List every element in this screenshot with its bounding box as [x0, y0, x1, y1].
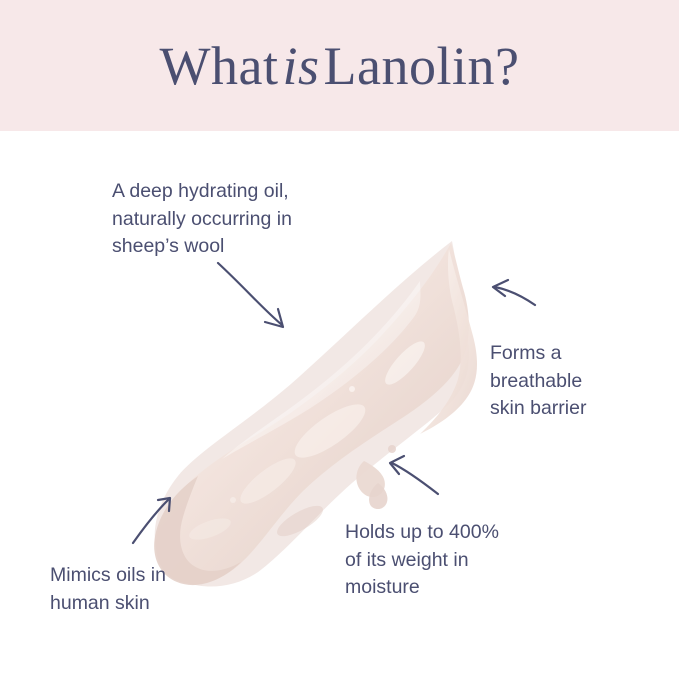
callout-forms-barrier-line-1: Forms a	[490, 340, 586, 368]
callout-holds-moisture-line-3: moisture	[345, 574, 499, 602]
callout-forms-barrier: Forms a breathable skin barrier	[490, 340, 586, 423]
callout-holds-moisture: Holds up to 400% of its weight in moistu…	[345, 519, 499, 602]
callout-deep-hydrating-line-2: naturally occurring in	[112, 206, 292, 234]
callout-mimics-oils-line-1: Mimics oils in	[50, 562, 166, 590]
lanolin-infographic: What is Lanolin?	[0, 0, 679, 679]
callout-holds-moisture-line-2: of its weight in	[345, 547, 499, 575]
page-title-part1: What	[160, 35, 279, 97]
callout-mimics-oils-line-2: human skin	[50, 590, 166, 618]
callout-forms-barrier-line-3: skin barrier	[490, 395, 586, 423]
callout-deep-hydrating-line-3: sheep’s wool	[112, 233, 292, 261]
page-title-part2: Lanolin?	[324, 35, 520, 97]
page-title-emphasis: is	[278, 35, 323, 97]
callout-deep-hydrating-line-1: A deep hydrating oil,	[112, 178, 292, 206]
callout-deep-hydrating: A deep hydrating oil, naturally occurrin…	[112, 178, 292, 261]
callout-forms-barrier-line-2: breathable	[490, 368, 586, 396]
callout-mimics-oils: Mimics oils in human skin	[50, 562, 166, 617]
callout-holds-moisture-line-1: Holds up to 400%	[345, 519, 499, 547]
page-title: What is Lanolin?	[0, 0, 679, 131]
